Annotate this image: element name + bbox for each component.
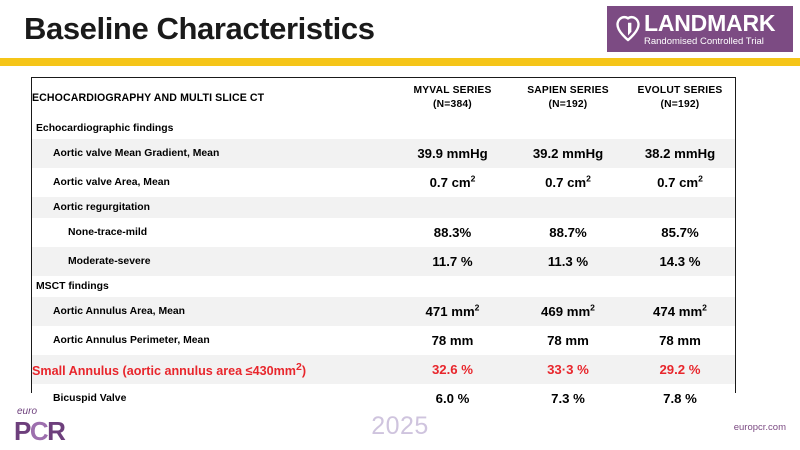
row-value-cell: 33·3 % — [511, 355, 625, 384]
table-row: MSCT findings — [32, 276, 735, 297]
row-value-cell — [625, 276, 735, 297]
row-value-cell: 85.7% — [625, 218, 735, 247]
row-value-cell: 0.7 cm2 — [394, 168, 511, 197]
row-label: Aortic Annulus Area, Mean — [32, 297, 394, 326]
row-label: Aortic Annulus Perimeter, Mean — [32, 326, 394, 355]
row-value-cell: 469 mm2 — [511, 297, 625, 326]
row-value-cell — [394, 276, 511, 297]
baseline-characteristics-table: ECHOCARDIOGRAPHY AND MULTI SLICE CT MYVA… — [31, 77, 736, 393]
row-label: Aortic valve Area, Mean — [32, 168, 394, 197]
row-label: None-trace-mild — [32, 218, 394, 247]
heart-icon — [613, 13, 643, 43]
slide-header: Baseline Characteristics LANDMARK Random… — [0, 0, 800, 62]
column-header-sapien: SAPIEN SERIES (N=192) — [511, 78, 625, 118]
table-row: Echocardiographic findings — [32, 118, 735, 139]
column-header-myval-name: MYVAL SERIES — [394, 84, 511, 98]
row-label: Aortic regurgitation — [32, 197, 394, 218]
row-value-cell: 471 mm2 — [394, 297, 511, 326]
landmark-logo: LANDMARK Randomised Controlled Trial — [607, 6, 793, 52]
row-value-cell: 14.3 % — [625, 247, 735, 276]
row-value-cell: 11.3 % — [511, 247, 625, 276]
column-header-myval-n: (N=384) — [394, 98, 511, 112]
footer-website: europcr.com — [734, 422, 786, 433]
row-value-cell: 78 mm — [394, 326, 511, 355]
row-value-cell — [394, 197, 511, 218]
column-header-evolut-name: EVOLUT SERIES — [625, 84, 735, 98]
table-header-row: ECHOCARDIOGRAPHY AND MULTI SLICE CT MYVA… — [32, 78, 735, 118]
page-title: Baseline Characteristics — [24, 11, 375, 47]
footer-year: 2025 — [0, 412, 800, 441]
row-label: Small Annulus (aortic annulus area ≤430m… — [32, 355, 394, 384]
row-value-cell: 88.3% — [394, 218, 511, 247]
row-value-cell — [511, 197, 625, 218]
row-value-cell: 38.2 mmHg — [625, 139, 735, 168]
row-value-cell: 78 mm — [511, 326, 625, 355]
table-section-title: ECHOCARDIOGRAPHY AND MULTI SLICE CT — [32, 78, 394, 118]
accent-divider-bar — [0, 58, 800, 66]
row-value-cell: 32.6 % — [394, 355, 511, 384]
column-header-sapien-name: SAPIEN SERIES — [511, 84, 625, 98]
row-value-cell — [625, 197, 735, 218]
table-row: Moderate-severe 11.7 % 11.3 % 14.3 % — [32, 247, 735, 276]
row-label: Echocardiographic findings — [32, 118, 394, 139]
row-label: Aortic valve Mean Gradient, Mean — [32, 139, 394, 168]
column-header-myval: MYVAL SERIES (N=384) — [394, 78, 511, 118]
column-header-evolut-n: (N=192) — [625, 98, 735, 112]
row-value-cell: 11.7 % — [394, 247, 511, 276]
table-row-highlighted: Small Annulus (aortic annulus area ≤430m… — [32, 355, 735, 384]
row-value-cell: 474 mm2 — [625, 297, 735, 326]
slide-footer: euro PCR 2025 europcr.com — [0, 398, 800, 450]
table-row: Aortic regurgitation — [32, 197, 735, 218]
row-value-cell — [625, 118, 735, 139]
row-value-cell — [511, 276, 625, 297]
row-value-cell: 29.2 % — [625, 355, 735, 384]
table-row: Aortic Annulus Area, Mean 471 mm2 469 mm… — [32, 297, 735, 326]
table-body: ECHOCARDIOGRAPHY AND MULTI SLICE CT MYVA… — [32, 78, 735, 413]
table-row: Aortic valve Mean Gradient, Mean 39.9 mm… — [32, 139, 735, 168]
row-value-cell — [511, 118, 625, 139]
row-label: Moderate-severe — [32, 247, 394, 276]
row-label: MSCT findings — [32, 276, 394, 297]
table-row: Aortic Annulus Perimeter, Mean 78 mm 78 … — [32, 326, 735, 355]
landmark-logo-name: LANDMARK — [644, 12, 775, 35]
table-row: None-trace-mild 88.3% 88.7% 85.7% — [32, 218, 735, 247]
row-value-cell: 78 mm — [625, 326, 735, 355]
row-value-cell: 0.7 cm2 — [511, 168, 625, 197]
column-header-evolut: EVOLUT SERIES (N=192) — [625, 78, 735, 118]
row-value-cell: 88.7% — [511, 218, 625, 247]
row-value-cell: 39.9 mmHg — [394, 139, 511, 168]
landmark-logo-subtitle: Randomised Controlled Trial — [644, 37, 775, 47]
row-value-cell — [394, 118, 511, 139]
row-value-cell: 39.2 mmHg — [511, 139, 625, 168]
row-value-cell: 0.7 cm2 — [625, 168, 735, 197]
table-row: Aortic valve Area, Mean 0.7 cm2 0.7 cm2 … — [32, 168, 735, 197]
column-header-sapien-n: (N=192) — [511, 98, 625, 112]
